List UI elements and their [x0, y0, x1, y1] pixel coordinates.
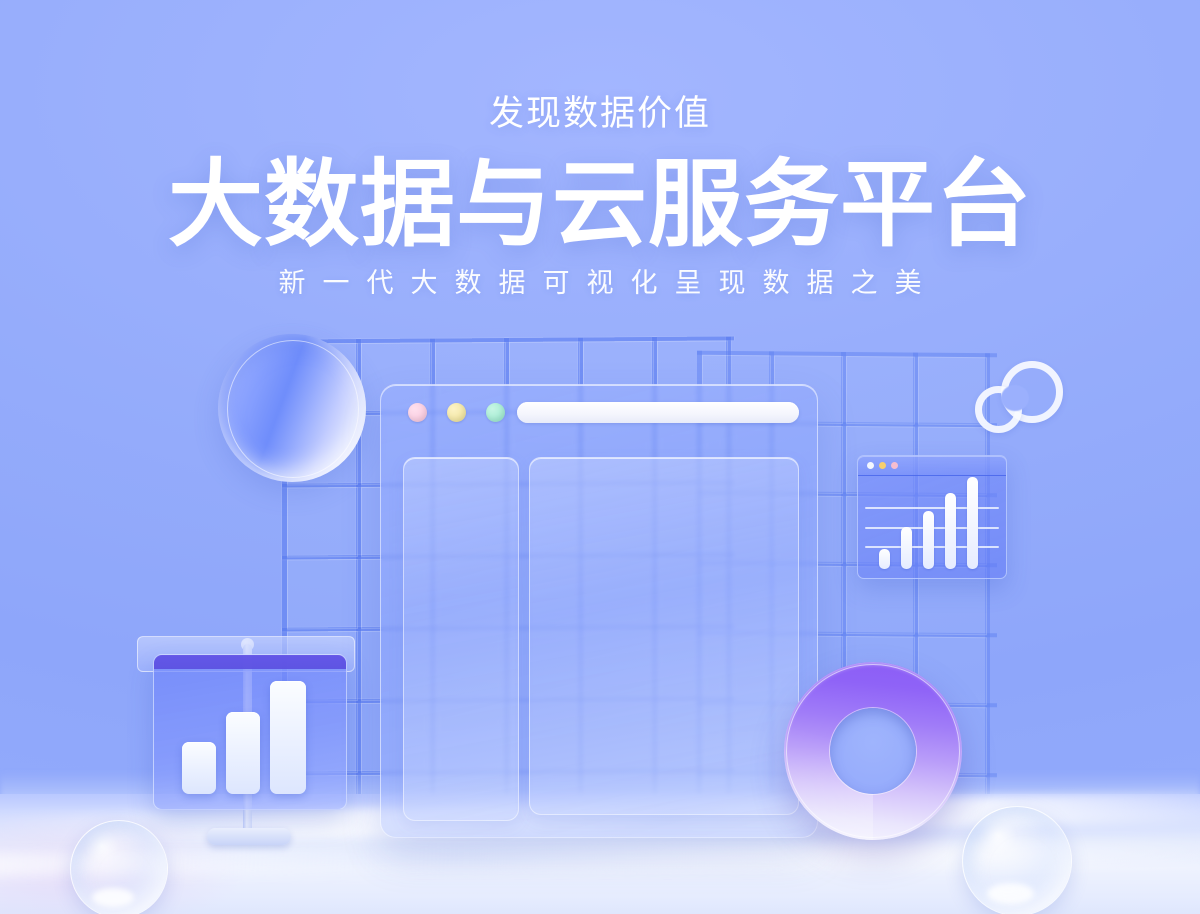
browser-title-bar: [381, 385, 817, 439]
board-bar: [226, 712, 260, 794]
sidebar-panel[interactable]: [403, 457, 519, 821]
mini-chart-bar: [901, 527, 912, 569]
board-header-strip: [154, 655, 346, 669]
mini-chart-bar: [879, 549, 890, 569]
hero-text-block: 发现数据价值 大数据与云服务平台 新一代大数据可视化呈现数据之美: [0, 0, 1200, 297]
minimize-dot-icon[interactable]: [447, 403, 466, 422]
address-bar-input[interactable]: [517, 402, 799, 423]
hero-eyebrow: 发现数据价值: [0, 0, 1200, 131]
mini-chart-bar: [945, 493, 956, 569]
cloud-icon: [975, 361, 1067, 439]
maximize-dot-icon[interactable]: [486, 403, 505, 422]
close-dot-icon[interactable]: [408, 403, 427, 422]
mini-dot-pink-icon[interactable]: [891, 462, 898, 469]
hero-subtitle: 新一代大数据可视化呈现数据之美: [0, 256, 1200, 297]
hero-banner: 发现数据价值 大数据与云服务平台 新一代大数据可视化呈现数据之美: [0, 0, 1200, 914]
stand-base: [207, 828, 291, 845]
grid-cell: [287, 559, 358, 629]
cloud-arc-mask: [1001, 385, 1029, 411]
content-panel[interactable]: [529, 457, 799, 815]
board-panel: [153, 654, 347, 810]
glass-sphere-small-left-icon: [70, 820, 168, 914]
grid-cell: [287, 487, 358, 557]
board-bar: [182, 742, 216, 794]
mini-chart-bar: [967, 477, 978, 569]
mini-window-title-bar: [858, 456, 1006, 476]
chart-gridline: [865, 507, 999, 509]
mini-dot-white-icon[interactable]: [867, 462, 874, 469]
board-chart-widget: [133, 636, 359, 846]
browser-window[interactable]: [380, 384, 818, 838]
board-bar: [270, 681, 306, 794]
page-title: 大数据与云服务平台: [0, 131, 1200, 256]
mini-chart-window[interactable]: [857, 455, 1007, 579]
mini-dot-yellow-icon[interactable]: [879, 462, 886, 469]
grid-cell: [846, 356, 915, 425]
glass-sphere-large-icon: [218, 334, 366, 482]
glass-sphere-small-right-icon: [962, 806, 1072, 914]
donut-ring-icon: [784, 662, 962, 840]
mini-chart-bar: [923, 511, 934, 569]
